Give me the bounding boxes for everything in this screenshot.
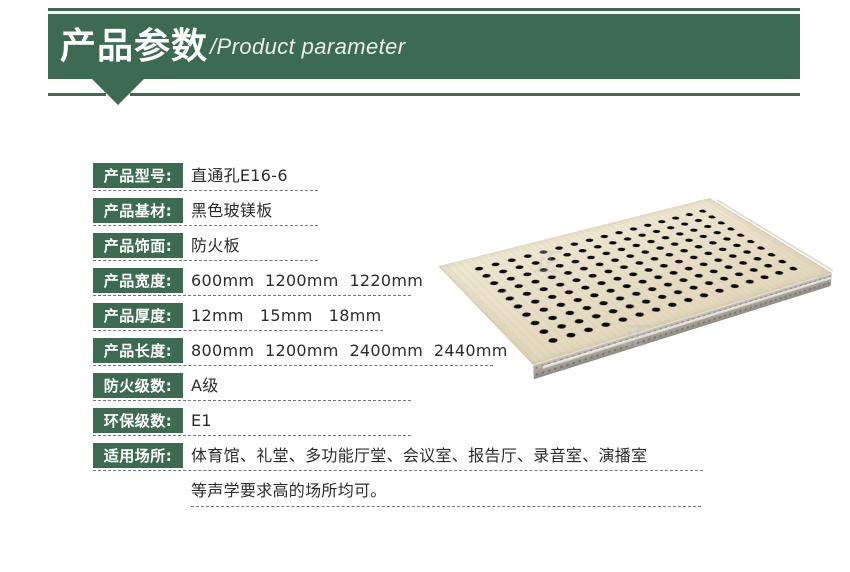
spec-value: 黑色玻镁板 [183,198,273,223]
spec-row: 适用场所:体育馆、礼堂、多功能厅堂、会议室、报告厅、录音室、演播室 [93,443,733,478]
spec-value: 12mm 15mm 18mm [183,303,382,328]
spec-value: E1 [183,408,212,433]
spec-value: 600mm 1200mm 1220mm [183,268,423,293]
spec-label-tag: 产品型号: [93,163,183,188]
panel-scene [425,130,850,430]
panel-perforations [467,208,802,349]
spec-underline [93,470,703,471]
product-image: 正 正 [425,130,850,430]
header-green-band: 产品参数 /Product parameter [48,14,800,79]
spec-underline [93,225,318,226]
page-title-cn: 产品参数 [60,29,208,65]
spec-underline [191,506,701,507]
page-title-en: /Product parameter [210,34,406,60]
acoustic-panel-3d [438,198,832,365]
spec-underline [93,400,411,401]
spec-row-continuation: 等声学要求高的场所均可。 [93,478,733,512]
spec-label-tag: 适用场所: [93,443,183,468]
spec-underline [93,330,383,331]
spec-label-tag: 环保级数: [93,408,183,433]
spec-label-tag: 产品基材: [93,198,183,223]
page-header: 产品参数 /Product parameter [0,0,850,110]
spec-underline [93,260,318,261]
spec-label-tag: 产品厚度: [93,303,183,328]
spec-value: 防火板 [183,233,240,258]
spec-value-continuation: 等声学要求高的场所均可。 [93,478,733,504]
spec-underline [93,190,318,191]
spec-label-tag: 防火级数: [93,373,183,398]
spec-value: 体育馆、礼堂、多功能厅堂、会议室、报告厅、录音室、演播室 [183,443,647,468]
spec-label-tag: 产品长度: [93,338,183,363]
page-title: 产品参数 /Product parameter [48,14,406,79]
header-rule-top [48,8,800,11]
spec-value: A级 [183,373,219,398]
spec-value: 直通孔E16-6 [183,163,288,188]
spec-underline [93,295,411,296]
spec-label-tag: 产品宽度: [93,268,183,293]
spec-label-tag: 产品饰面: [93,233,183,258]
spec-underline [93,435,411,436]
down-triangle-pointer-icon [92,79,144,105]
header-rule-bottom-right [130,93,800,96]
spec-line: 适用场所:体育馆、礼堂、多功能厅堂、会议室、报告厅、录音室、演播室 [93,443,733,471]
